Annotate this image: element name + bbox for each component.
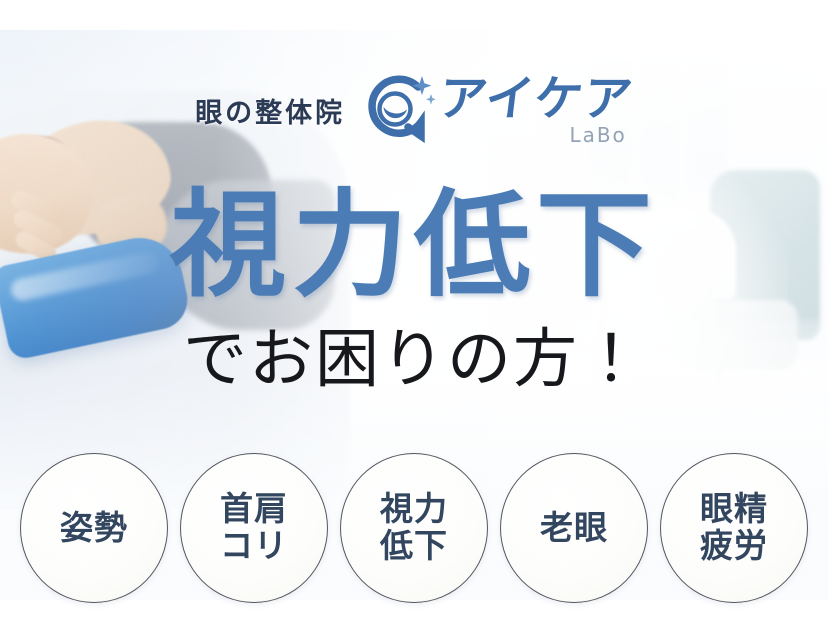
symptom-circle-list: 姿勢 首肩 コリ 視力 低下 老眼 眼精 疲労 [0,452,828,604]
promo-banner: 眼の整体院 アイケア LaBo 視力低下 でお困りの方！ 姿勢 首肩 コリ [0,0,828,629]
symptom-circle-vision-decline[interactable]: 視力 低下 [340,453,488,603]
hero-headline: 視力低下 [0,186,828,304]
logo-brand-wrap: アイケア LaBo [439,75,633,145]
symptom-label: 老眼 [540,510,608,547]
symptom-label: 首肩 コリ [220,491,288,565]
eye-sparkle-icon [361,74,435,146]
symptom-circle-presbyopia[interactable]: 老眼 [500,453,648,603]
symptom-circle-eye-strain[interactable]: 眼精 疲労 [660,453,808,603]
symptom-label: 視力 低下 [380,491,448,565]
hero-subheadline: でお困りの方！ [0,327,828,394]
logo-sub: LaBo [569,125,626,145]
logo-tagline: 眼の整体院 [195,91,345,130]
symptom-circle-neck-shoulder-stiffness[interactable]: 首肩 コリ [180,453,328,603]
symptom-circle-posture[interactable]: 姿勢 [20,453,168,603]
logo-brand: アイケア [436,75,636,123]
logo-lockup: 眼の整体院 アイケア LaBo [0,74,828,146]
symptom-label: 姿勢 [60,510,128,547]
symptom-label: 眼精 疲労 [700,491,768,565]
